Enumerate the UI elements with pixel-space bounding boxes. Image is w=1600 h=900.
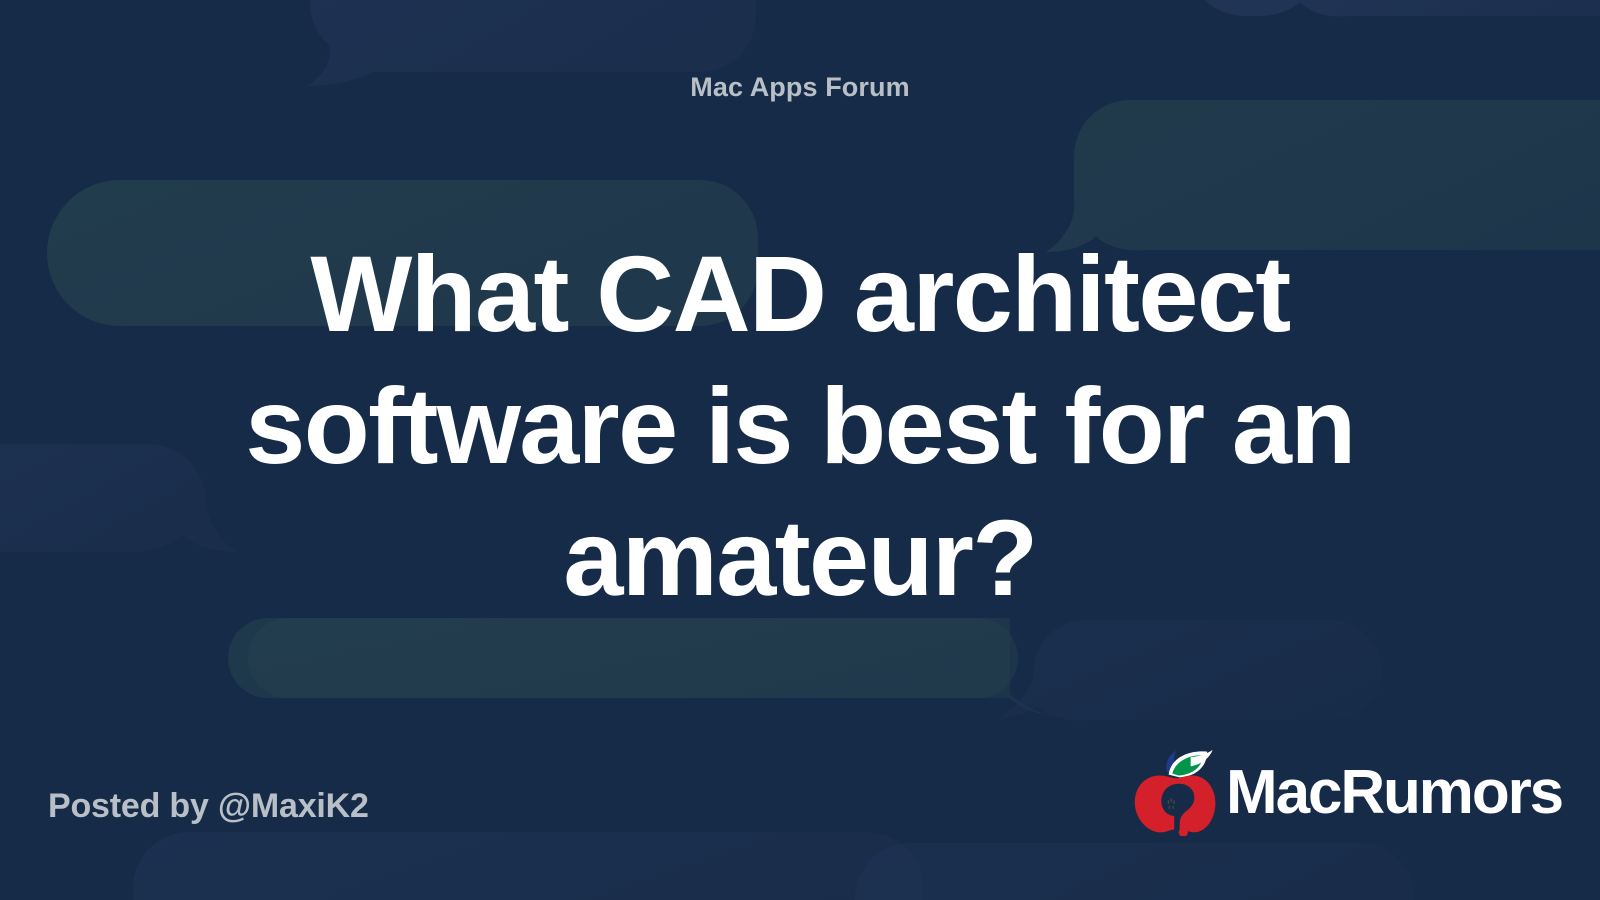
posted-by-label: Posted by @MaxiK2 <box>48 787 369 826</box>
macrumors-wordmark: MacRumors <box>1226 762 1562 824</box>
apple-seed-speckles <box>1168 798 1175 808</box>
thread-title: What CAD architect software is best for … <box>230 228 1370 623</box>
macrumors-apple-icon <box>1130 748 1222 836</box>
apple-body-red <box>1135 776 1216 833</box>
card-content: Mac Apps Forum What CAD architect softwa… <box>0 0 1600 900</box>
social-share-card: Mac Apps Forum What CAD architect softwa… <box>0 0 1600 900</box>
macrumors-logo: MacRumors <box>1130 748 1562 838</box>
forum-name-label: Mac Apps Forum <box>0 72 1600 103</box>
